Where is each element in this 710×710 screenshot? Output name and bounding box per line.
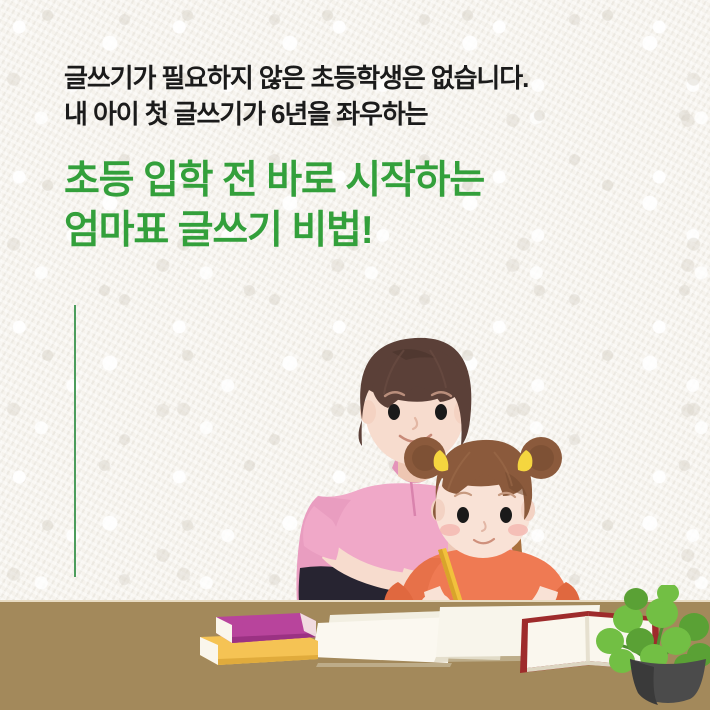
headline-line-2: 엄마표 글쓰기 비법! bbox=[64, 206, 644, 256]
headline-block: 글쓰기가 필요하지 않은 초등학생은 없습니다. 내 아이 첫 글쓰기가 6년을… bbox=[64, 60, 644, 256]
potted-plant bbox=[596, 585, 710, 705]
promo-card: 글쓰기가 필요하지 않은 초등학생은 없습니다. 내 아이 첫 글쓰기가 6년을… bbox=[0, 0, 710, 710]
stacked-books bbox=[200, 613, 318, 665]
illustration-scene bbox=[0, 300, 710, 630]
desk-objects bbox=[0, 585, 710, 710]
subheadline-line-2: 내 아이 첫 글쓰기가 6년을 좌우하는 bbox=[64, 96, 644, 132]
headline-line-1: 초등 입학 전 바로 시작하는 bbox=[64, 156, 644, 206]
subheadline-line-1: 글쓰기가 필요하지 않은 초등학생은 없습니다. bbox=[64, 60, 644, 96]
main-headline: 초등 입학 전 바로 시작하는 엄마표 글쓰기 비법! bbox=[64, 156, 644, 256]
